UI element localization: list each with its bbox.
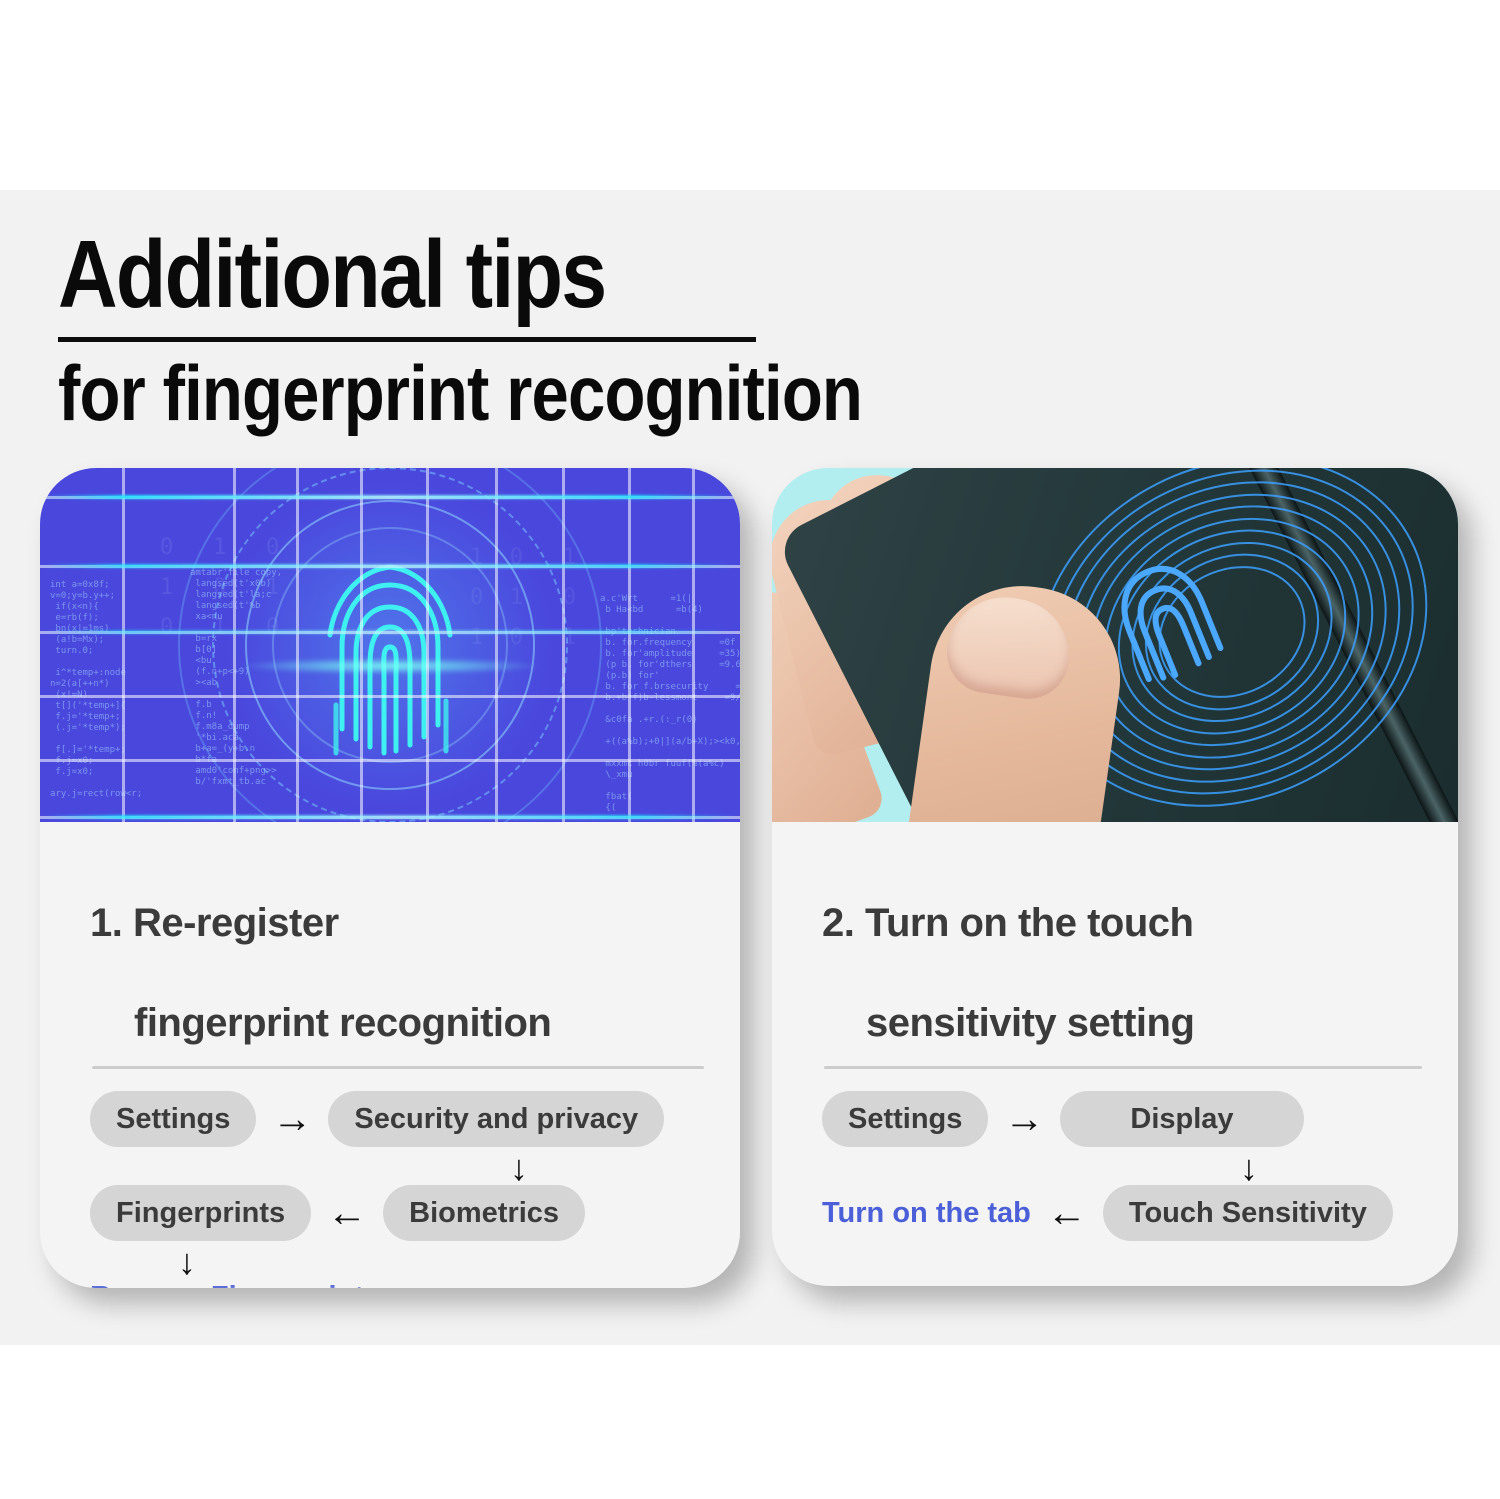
card-1-heading: 1. Re-register fingerprint recognition	[90, 848, 706, 1048]
scan-graphic-canvas: int a=0x8f; v=0;y=b.y++; if(x<n){ e=rb(f…	[40, 468, 740, 822]
title-subtitle-text: for fingerprint recognition	[58, 352, 862, 434]
grid-line-v	[628, 468, 631, 822]
code-fragment-left: int a=0x8f; v=0;y=b.y++; if(x<n){ e=rb(f…	[50, 580, 142, 800]
grid-line-v	[426, 468, 429, 822]
scan-beam-bottom	[40, 815, 740, 819]
scan-beam-mid	[40, 564, 740, 568]
flow-down-1: ↓	[822, 1153, 1424, 1183]
card-1-body: 1. Re-register fingerprint recognition S…	[40, 822, 740, 1288]
grid-line-v	[495, 468, 498, 822]
arrow-right-icon: →	[1004, 1099, 1044, 1139]
arrow-right-icon: →	[272, 1099, 312, 1139]
flow-down-1: ↓	[90, 1153, 706, 1183]
tip-card-1[interactable]: int a=0x8f; v=0;y=b.y++; if(x<n){ e=rb(f…	[40, 468, 740, 1288]
grid-line-v	[296, 468, 299, 822]
card-1-heading-line1: 1. Re-register	[90, 901, 339, 945]
scan-beam-low	[40, 630, 740, 634]
arrow-down-icon: ↓	[1240, 1153, 1258, 1183]
grid-line-h	[40, 759, 740, 762]
pill-touch-sensitivity[interactable]: Touch Sensitivity	[1103, 1185, 1393, 1241]
flow-row-2: Turn on the tab ← Touch Sensitivity	[822, 1185, 1424, 1241]
grid-line-h	[40, 695, 740, 698]
pill-settings[interactable]: Settings	[822, 1091, 988, 1147]
card-1-note: Remove Fingerprints & Re-register Finger…	[90, 1279, 706, 1288]
arrow-left-icon: ←	[1047, 1193, 1087, 1233]
fingerprint-ridges-icon	[290, 515, 490, 775]
phone-photo-canvas	[772, 468, 1458, 822]
grid-line-v	[360, 468, 363, 822]
fingerprint-scan-graphic: int a=0x8f; v=0;y=b.y++; if(x<n){ e=rb(f…	[40, 468, 740, 822]
card-2-divider	[824, 1066, 1422, 1069]
card-2-heading-line2: sensitivity setting	[822, 998, 1194, 1048]
card-2-flow: Settings → Display ↓ Turn on the tab ← T…	[822, 1091, 1424, 1241]
title-main-text: Additional tips	[58, 228, 1004, 322]
flow-row-1: Settings → Display	[822, 1091, 1424, 1147]
grid-line-v	[233, 468, 236, 822]
grid-line-v	[562, 468, 565, 822]
card-1-heading-line2: fingerprint recognition	[90, 998, 551, 1048]
tip-card-2[interactable]: 2. Turn on the touch sensitivity setting…	[772, 468, 1458, 1286]
card-1-divider	[92, 1066, 704, 1069]
arrow-down-icon: ↓	[178, 1247, 196, 1277]
page-title: Additional tips for fingerprint recognit…	[58, 228, 1158, 322]
arrow-left-icon: ←	[327, 1193, 367, 1233]
pill-biometrics[interactable]: Biometrics	[383, 1185, 585, 1241]
pill-settings[interactable]: Settings	[90, 1091, 256, 1147]
arrow-down-icon: ↓	[510, 1153, 528, 1183]
link-turn-on-the-tab[interactable]: Turn on the tab	[822, 1196, 1031, 1230]
flow-row-1: Settings → Security and privacy	[90, 1091, 706, 1147]
code-fragment-right: a.c'Wrt =1(| b Ha<bd =b(4) bp'technician…	[600, 594, 740, 822]
fingerprint-ridges-icon	[1102, 550, 1232, 690]
thumb-on-phone-photo	[772, 468, 1458, 822]
scan-beam-top	[40, 495, 740, 499]
card-2-heading-line1: 2. Turn on the touch	[822, 901, 1193, 945]
card-2-body: 2. Turn on the touch sensitivity setting…	[772, 822, 1458, 1241]
flow-row-2: Fingerprints ← Biometrics	[90, 1185, 706, 1241]
card-1-flow: Settings → Security and privacy ↓ Finger…	[90, 1091, 706, 1288]
pill-display[interactable]: Display	[1060, 1091, 1303, 1147]
grid-line-v	[692, 468, 695, 822]
pill-fingerprints[interactable]: Fingerprints	[90, 1185, 311, 1241]
pill-security-and-privacy[interactable]: Security and privacy	[328, 1091, 664, 1147]
grid-line-v	[122, 468, 125, 822]
card-2-heading: 2. Turn on the touch sensitivity setting	[822, 848, 1424, 1048]
flow-down-2: ↓	[90, 1247, 706, 1277]
title-underline	[58, 337, 756, 342]
